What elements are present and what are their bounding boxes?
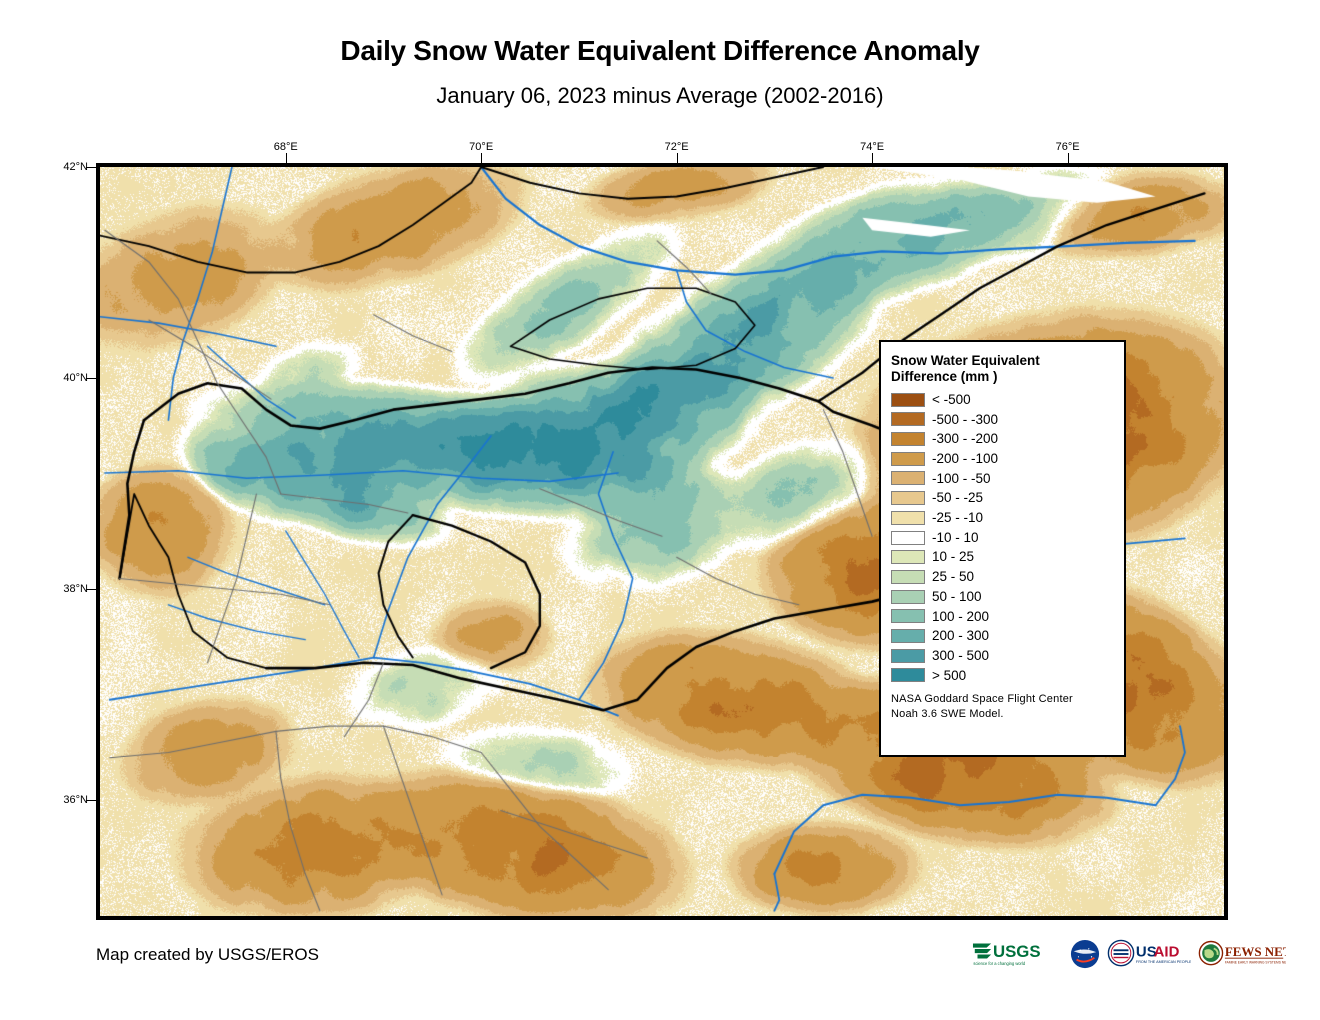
legend-label: -200 - -100 [932, 452, 998, 466]
lon-label: 72°E [665, 141, 689, 153]
legend-label: 50 - 100 [932, 590, 982, 604]
legend-row: 200 - 300 [891, 626, 1116, 646]
legend-row: > 500 [891, 665, 1116, 685]
lat-label: 38°N [63, 583, 88, 595]
legend-row: < -500 [891, 390, 1116, 410]
legend-row: -200 - -100 [891, 449, 1116, 469]
legend-row: -100 - -50 [891, 469, 1116, 489]
title-block: Daily Snow Water Equivalent Difference A… [0, 0, 1320, 107]
legend-row: -500 - -300 [891, 410, 1116, 430]
usgs-logo[interactable]: USGS science for a changing world [972, 939, 1063, 969]
legend-swatch [891, 511, 925, 525]
legend-label: -50 - -25 [932, 491, 983, 505]
legend-swatch [891, 570, 925, 584]
legend-row: 300 - 500 [891, 646, 1116, 666]
lon-tick [677, 153, 678, 163]
legend-row: 100 - 200 [891, 606, 1116, 626]
legend-label: -500 - -300 [932, 413, 998, 427]
lat-label: 36°N [63, 794, 88, 806]
legend-row: 25 - 50 [891, 567, 1116, 587]
lat-tick [86, 800, 96, 801]
page-title: Daily Snow Water Equivalent Difference A… [0, 37, 1320, 65]
legend-swatch [891, 629, 925, 643]
legend-label: 25 - 50 [932, 570, 974, 584]
lon-label: 70°E [469, 141, 493, 153]
legend-swatch [891, 412, 925, 426]
lat-tick [86, 378, 96, 379]
legend-swatch [891, 393, 925, 407]
legend-label: -10 - 10 [932, 531, 979, 545]
lat-label: 42°N [63, 161, 88, 173]
map-credit: Map created by USGS/EROS [96, 946, 319, 963]
legend-row: 50 - 100 [891, 587, 1116, 607]
legend-swatch [891, 471, 925, 485]
svg-text:USGS: USGS [993, 942, 1041, 961]
lon-label: 74°E [860, 141, 884, 153]
legend-entries: < -500-500 - -300-300 - -200-200 - -100-… [891, 390, 1116, 685]
legend-label: -25 - -10 [932, 511, 983, 525]
legend-row: -25 - -10 [891, 508, 1116, 528]
usaid-logo[interactable]: US AID FROM THE AMERICAN PEOPLE [1107, 939, 1191, 969]
legend-swatch [891, 550, 925, 564]
lat-tick [86, 589, 96, 590]
svg-text:science for a changing world: science for a changing world [973, 960, 1025, 965]
lon-tick [286, 153, 287, 163]
legend-swatch [891, 491, 925, 505]
legend-label: 100 - 200 [932, 610, 989, 624]
legend-label: 200 - 300 [932, 629, 989, 643]
legend-row: -300 - -200 [891, 429, 1116, 449]
legend-title: Snow Water Equivalent Difference (mm ) [891, 353, 1116, 385]
legend-panel: Snow Water Equivalent Difference (mm ) <… [879, 340, 1126, 757]
svg-text:FROM THE AMERICAN PEOPLE: FROM THE AMERICAN PEOPLE [1136, 959, 1191, 963]
lon-tick [872, 153, 873, 163]
legend-swatch [891, 452, 925, 466]
legend-swatch [891, 590, 925, 604]
nasa-logo[interactable] [1070, 939, 1100, 969]
svg-text:FEWS NET: FEWS NET [1225, 943, 1286, 958]
legend-row: -10 - 10 [891, 528, 1116, 548]
lon-label: 76°E [1056, 141, 1080, 153]
legend-swatch [891, 668, 925, 682]
lon-tick [481, 153, 482, 163]
fews-net-logo[interactable]: FEWS NET FAMINE EARLY WARNING SYSTEMS NE… [1198, 939, 1286, 969]
lon-label: 68°E [274, 141, 298, 153]
svg-text:AID: AID [1154, 943, 1180, 960]
legend-label: < -500 [932, 393, 971, 407]
page-subtitle: January 06, 2023 minus Average (2002-201… [0, 85, 1320, 107]
legend-swatch [891, 649, 925, 663]
logo-strip: USGS science for a changing world US AID… [972, 937, 1286, 970]
legend-row: 10 - 25 [891, 547, 1116, 567]
lon-tick [1068, 153, 1069, 163]
svg-text:FAMINE EARLY WARNING SYSTEMS N: FAMINE EARLY WARNING SYSTEMS NETWORK [1225, 960, 1286, 964]
legend-swatch [891, 432, 925, 446]
legend-label: -300 - -200 [932, 432, 998, 446]
legend-swatch [891, 531, 925, 545]
legend-label: > 500 [932, 669, 966, 683]
legend-label: 10 - 25 [932, 550, 974, 564]
legend-label: -100 - -50 [932, 472, 991, 486]
legend-row: -50 - -25 [891, 488, 1116, 508]
lat-label: 40°N [63, 372, 88, 384]
legend-credit: NASA Goddard Space Flight Center Noah 3.… [891, 692, 1116, 721]
legend-label: 300 - 500 [932, 649, 989, 663]
lat-tick [86, 167, 96, 168]
legend-swatch [891, 609, 925, 623]
